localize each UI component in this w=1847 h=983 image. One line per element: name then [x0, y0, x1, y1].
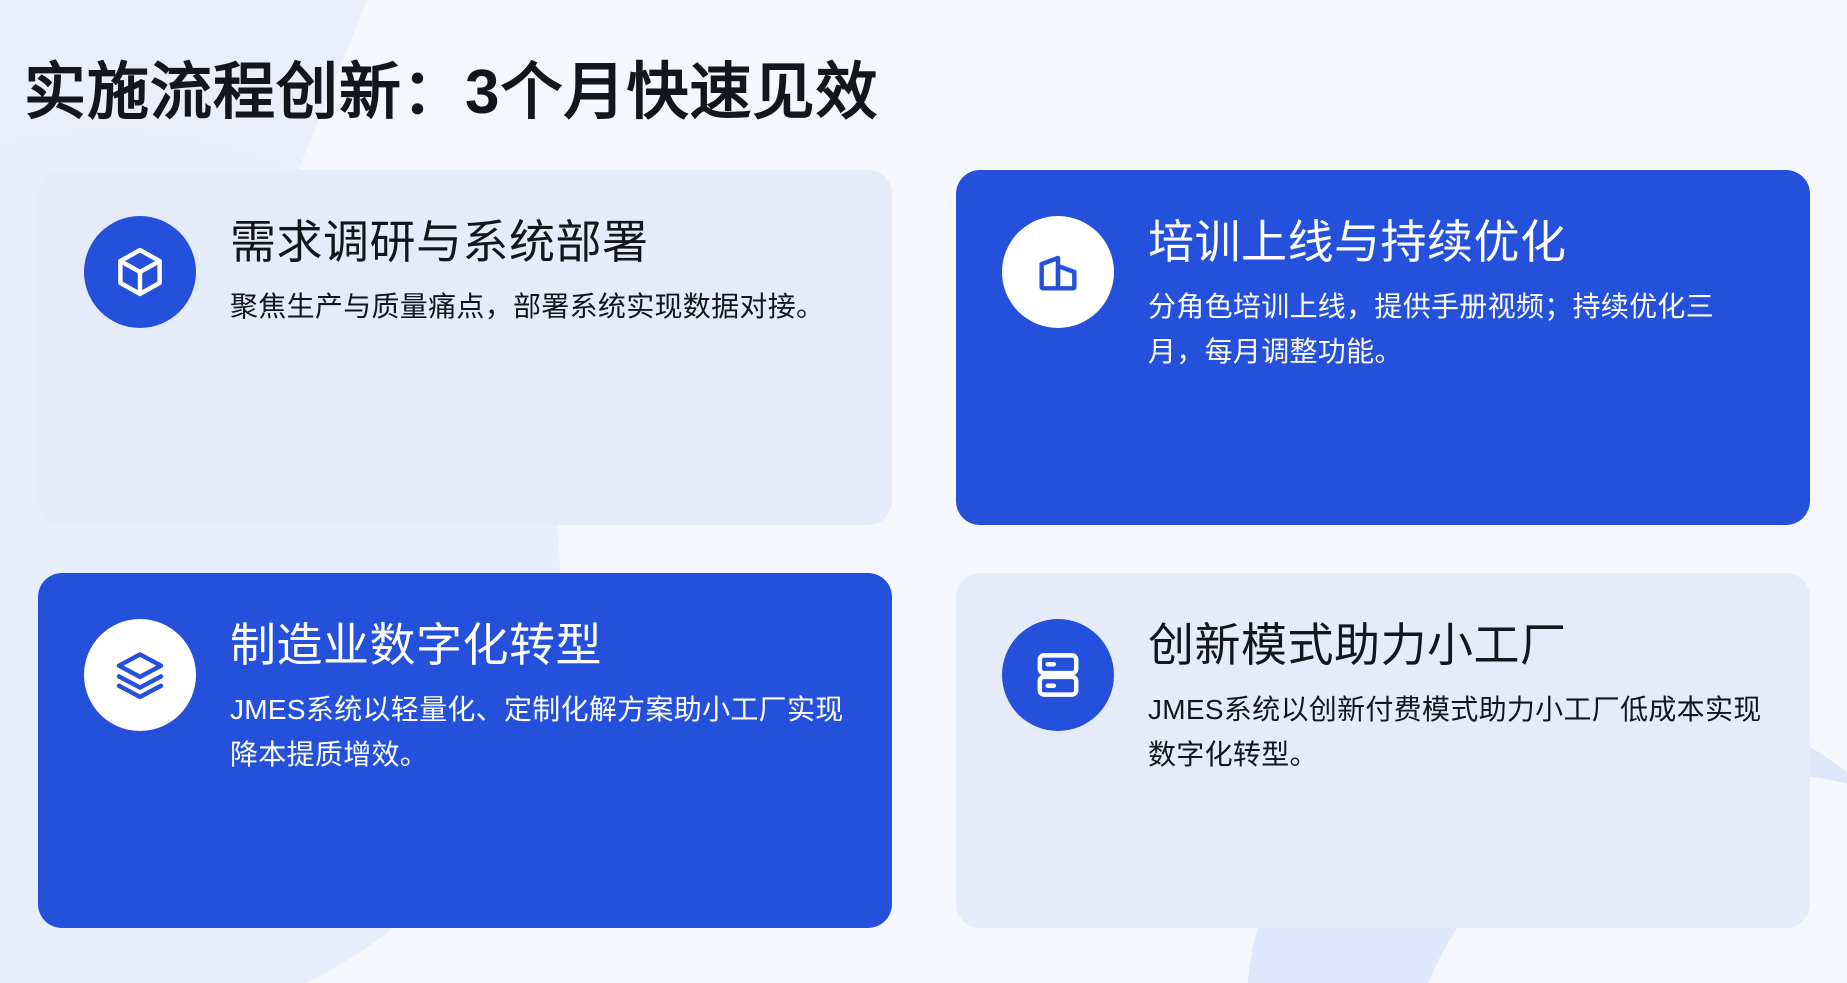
card-text: 创新模式助力小工厂 JMES系统以创新付费模式助力小工厂低成本实现数字化转型。 [1148, 615, 1766, 778]
card-description: 分角色培训上线，提供手册视频；持续优化三月，每月调整功能。 [1148, 284, 1766, 375]
feature-card[interactable]: 需求调研与系统部署 聚焦生产与质量痛点，部署系统实现数据对接。 [38, 170, 892, 525]
cube-icon [84, 216, 196, 328]
card-text: 培训上线与持续优化 分角色培训上线，提供手册视频；持续优化三月，每月调整功能。 [1148, 212, 1766, 375]
server-icon [1002, 619, 1114, 731]
card-text: 制造业数字化转型 JMES系统以轻量化、定制化解方案助小工厂实现降本提质增效。 [230, 615, 848, 778]
card-grid: 需求调研与系统部署 聚焦生产与质量痛点，部署系统实现数据对接。 培训上线与持续优… [38, 170, 1810, 928]
feature-card[interactable]: 创新模式助力小工厂 JMES系统以创新付费模式助力小工厂低成本实现数字化转型。 [956, 573, 1810, 928]
feature-card[interactable]: 培训上线与持续优化 分角色培训上线，提供手册视频；持续优化三月，每月调整功能。 [956, 170, 1810, 525]
card-title: 创新模式助力小工厂 [1148, 617, 1766, 673]
card-text: 需求调研与系统部署 聚焦生产与质量痛点，部署系统实现数据对接。 [230, 212, 848, 329]
feature-card[interactable]: 制造业数字化转型 JMES系统以轻量化、定制化解方案助小工厂实现降本提质增效。 [38, 573, 892, 928]
card-description: JMES系统以创新付费模式助力小工厂低成本实现数字化转型。 [1148, 687, 1766, 778]
slide: 实施流程创新：3个月快速见效 需求调研与系统部署 聚焦生产与质量痛点，部署系统实… [0, 0, 1847, 983]
card-title: 培训上线与持续优化 [1148, 214, 1766, 270]
card-description: JMES系统以轻量化、定制化解方案助小工厂实现降本提质增效。 [230, 687, 848, 778]
layers-icon [84, 619, 196, 731]
page-title: 实施流程创新：3个月快速见效 [24, 56, 878, 129]
card-description: 聚焦生产与质量痛点，部署系统实现数据对接。 [230, 284, 848, 329]
card-title: 制造业数字化转型 [230, 617, 848, 673]
building-icon [1002, 216, 1114, 328]
card-title: 需求调研与系统部署 [230, 214, 848, 270]
